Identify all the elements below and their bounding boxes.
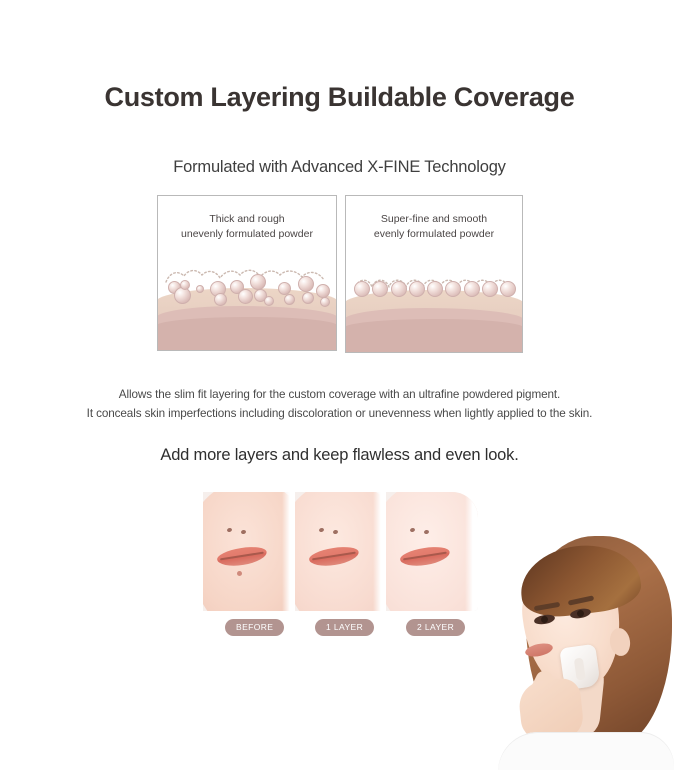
powder-sphere <box>500 281 516 297</box>
powder-particle <box>298 276 314 292</box>
powder-sphere <box>372 281 388 297</box>
badge-2-layer: 2 LAYER <box>406 619 465 636</box>
powder-comparison-diagram: Thick and rough unevenly formulated powd… <box>157 195 523 353</box>
layer-badges: BEFORE 1 LAYER 2 LAYER <box>203 619 478 637</box>
powder-particle <box>316 284 330 298</box>
powder-particle <box>238 289 253 304</box>
photo-before <box>203 492 295 611</box>
photo-two-layer <box>386 492 478 611</box>
caption-line-1: Super-fine and smooth <box>346 212 522 227</box>
photo-edge-fade <box>373 492 386 611</box>
powder-sphere <box>445 281 461 297</box>
powder-particle <box>196 285 204 293</box>
layer-comparison-photos <box>203 492 478 611</box>
powder-particle <box>284 294 295 305</box>
description-line-2: It conceals skin imperfections including… <box>0 404 679 423</box>
caption-line-2: unevenly formulated powder <box>158 227 336 242</box>
powder-sphere <box>464 281 480 297</box>
powder-particle <box>320 297 330 307</box>
section-heading: Add more layers and keep flawless and ev… <box>0 446 679 465</box>
comparison-box-right-caption: Super-fine and smooth evenly formulated … <box>346 212 522 242</box>
uniform-powder-row <box>354 279 516 297</box>
comparison-box-even-powder: Super-fine and smooth evenly formulated … <box>345 195 523 353</box>
powder-sphere <box>409 281 425 297</box>
skin-layer-base <box>345 319 523 352</box>
powder-sphere <box>427 281 443 297</box>
powder-particle <box>302 292 314 304</box>
page-title: Custom Layering Buildable Coverage <box>0 82 679 113</box>
powder-particle <box>214 293 227 306</box>
caption-line-2: evenly formulated powder <box>346 227 522 242</box>
powder-sphere <box>482 281 498 297</box>
model-shoulder <box>498 732 674 770</box>
caption-line-1: Thick and rough <box>158 212 336 227</box>
comparison-box-left-caption: Thick and rough unevenly formulated powd… <box>158 212 336 242</box>
page-subtitle: Formulated with Advanced X-FINE Technolo… <box>0 158 679 177</box>
product-detail-page: Custom Layering Buildable Coverage Formu… <box>0 0 679 770</box>
blemish-spot <box>237 571 242 576</box>
description-paragraph: Allows the slim fit layering for the cus… <box>0 385 679 423</box>
powder-sphere <box>354 281 370 297</box>
photo-one-layer <box>295 492 387 611</box>
badge-1-layer: 1 LAYER <box>315 619 374 636</box>
powder-particle <box>180 280 190 290</box>
description-line-1: Allows the slim fit layering for the cus… <box>0 385 679 404</box>
badge-before: BEFORE <box>225 619 284 636</box>
powder-sphere <box>391 281 407 297</box>
skin-layer-base <box>157 317 337 350</box>
powder-particle <box>250 274 266 290</box>
model-photo <box>490 520 679 770</box>
photo-edge-fade <box>465 492 478 611</box>
powder-particle <box>264 296 274 306</box>
comparison-box-uneven-powder: Thick and rough unevenly formulated powd… <box>157 195 337 351</box>
photo-edge-fade <box>282 492 295 611</box>
